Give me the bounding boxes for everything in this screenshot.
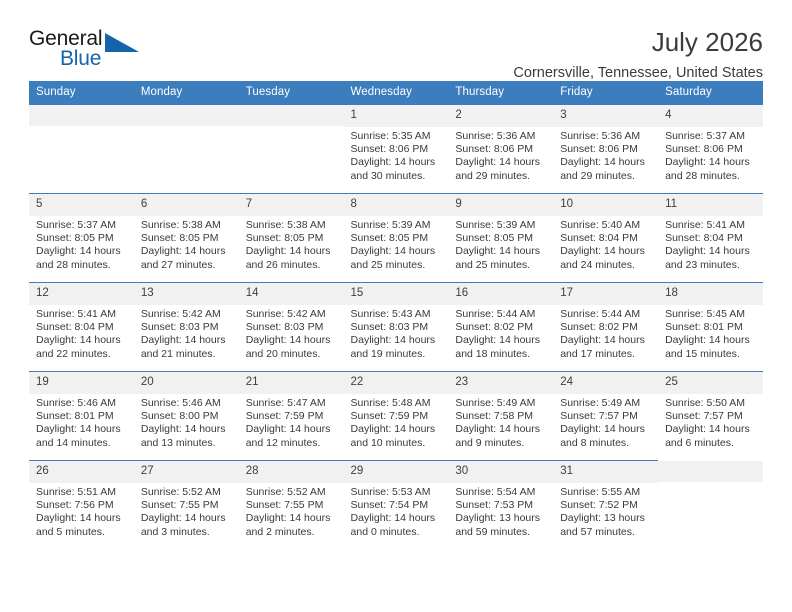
daylight-duration-line2: and 28 minutes.	[36, 259, 130, 272]
sunset-time: Sunset: 8:00 PM	[141, 410, 235, 423]
day-number: 23	[448, 372, 553, 394]
day-number	[239, 105, 344, 127]
sunrise-time: Sunrise: 5:37 AM	[36, 219, 130, 232]
calendar-day-cell[interactable]: 5Sunrise: 5:37 AMSunset: 8:05 PMDaylight…	[29, 194, 134, 283]
sunset-time: Sunset: 7:53 PM	[455, 499, 549, 512]
daylight-duration-line1: Daylight: 14 hours	[665, 334, 759, 347]
calendar-body: 1Sunrise: 5:35 AMSunset: 8:06 PMDaylight…	[29, 105, 763, 550]
day-details: Sunrise: 5:45 AMSunset: 8:01 PMDaylight:…	[658, 305, 763, 362]
daylight-duration-line1: Daylight: 14 hours	[36, 423, 130, 436]
sunrise-time: Sunrise: 5:49 AM	[455, 397, 549, 410]
sunset-time: Sunset: 8:06 PM	[560, 143, 654, 156]
weekday-header-saturday: Saturday	[658, 81, 763, 105]
daylight-duration-line2: and 23 minutes.	[665, 259, 759, 272]
title-block: July 2026 Cornersville, Tennessee, Unite…	[513, 28, 763, 82]
sunrise-time: Sunrise: 5:38 AM	[246, 219, 340, 232]
daylight-duration-line2: and 14 minutes.	[36, 437, 130, 450]
day-number: 11	[658, 194, 763, 216]
sunset-time: Sunset: 7:59 PM	[351, 410, 445, 423]
day-details: Sunrise: 5:52 AMSunset: 7:55 PMDaylight:…	[239, 483, 344, 540]
weekday-header-thursday: Thursday	[448, 81, 553, 105]
day-number: 8	[344, 194, 449, 216]
daylight-duration-line1: Daylight: 14 hours	[246, 423, 340, 436]
logo-text-blue: Blue	[60, 48, 101, 69]
day-details: Sunrise: 5:37 AMSunset: 8:06 PMDaylight:…	[658, 127, 763, 184]
sunrise-time: Sunrise: 5:47 AM	[246, 397, 340, 410]
daylight-duration-line1: Daylight: 14 hours	[560, 156, 654, 169]
daylight-duration-line2: and 59 minutes.	[455, 526, 549, 539]
day-number: 21	[239, 372, 344, 394]
day-details: Sunrise: 5:38 AMSunset: 8:05 PMDaylight:…	[239, 216, 344, 273]
sunrise-time: Sunrise: 5:44 AM	[560, 308, 654, 321]
day-number: 19	[29, 372, 134, 394]
sunset-time: Sunset: 8:04 PM	[560, 232, 654, 245]
weekday-header-wednesday: Wednesday	[344, 81, 449, 105]
daylight-duration-line2: and 57 minutes.	[560, 526, 654, 539]
day-number: 13	[134, 283, 239, 305]
day-number: 1	[344, 105, 449, 127]
sunrise-time: Sunrise: 5:51 AM	[36, 486, 130, 499]
daylight-duration-line1: Daylight: 13 hours	[560, 512, 654, 525]
calendar-day-cell[interactable]: 13Sunrise: 5:42 AMSunset: 8:03 PMDayligh…	[134, 283, 239, 372]
sunrise-time: Sunrise: 5:37 AM	[665, 130, 759, 143]
day-details: Sunrise: 5:53 AMSunset: 7:54 PMDaylight:…	[344, 483, 449, 540]
day-number: 26	[29, 461, 134, 483]
sunrise-time: Sunrise: 5:35 AM	[351, 130, 445, 143]
weekday-header-sunday: Sunday	[29, 81, 134, 105]
daylight-duration-line1: Daylight: 14 hours	[455, 423, 549, 436]
day-details: Sunrise: 5:39 AMSunset: 8:05 PMDaylight:…	[344, 216, 449, 273]
sunrise-time: Sunrise: 5:36 AM	[560, 130, 654, 143]
daylight-duration-line2: and 12 minutes.	[246, 437, 340, 450]
sunrise-time: Sunrise: 5:46 AM	[36, 397, 130, 410]
day-details: Sunrise: 5:37 AMSunset: 8:05 PMDaylight:…	[29, 216, 134, 273]
calendar-day-cell[interactable]: 16Sunrise: 5:44 AMSunset: 8:02 PMDayligh…	[448, 283, 553, 372]
calendar-day-cell[interactable]: 31Sunrise: 5:55 AMSunset: 7:52 PMDayligh…	[553, 461, 658, 550]
sunset-time: Sunset: 8:01 PM	[665, 321, 759, 334]
daylight-duration-line1: Daylight: 14 hours	[455, 245, 549, 258]
day-number: 30	[448, 461, 553, 483]
sunrise-time: Sunrise: 5:45 AM	[665, 308, 759, 321]
daylight-duration-line1: Daylight: 14 hours	[455, 334, 549, 347]
day-number: 25	[658, 372, 763, 394]
daylight-duration-line1: Daylight: 14 hours	[665, 423, 759, 436]
calendar-week-row: 1Sunrise: 5:35 AMSunset: 8:06 PMDaylight…	[29, 105, 763, 194]
day-number: 22	[344, 372, 449, 394]
page-header: General Blue July 2026 Cornersville, Ten…	[29, 0, 763, 76]
day-number	[29, 105, 134, 127]
weekday-header-tuesday: Tuesday	[239, 81, 344, 105]
sunrise-time: Sunrise: 5:41 AM	[665, 219, 759, 232]
sunrise-time: Sunrise: 5:38 AM	[141, 219, 235, 232]
day-details: Sunrise: 5:42 AMSunset: 8:03 PMDaylight:…	[134, 305, 239, 362]
day-details: Sunrise: 5:55 AMSunset: 7:52 PMDaylight:…	[553, 483, 658, 540]
sunrise-time: Sunrise: 5:42 AM	[246, 308, 340, 321]
day-number: 7	[239, 194, 344, 216]
daylight-duration-line2: and 21 minutes.	[141, 348, 235, 361]
daylight-duration-line2: and 3 minutes.	[141, 526, 235, 539]
day-details: Sunrise: 5:42 AMSunset: 8:03 PMDaylight:…	[239, 305, 344, 362]
daylight-duration-line2: and 2 minutes.	[246, 526, 340, 539]
sunset-time: Sunset: 7:55 PM	[246, 499, 340, 512]
daylight-duration-line2: and 9 minutes.	[455, 437, 549, 450]
sunrise-time: Sunrise: 5:41 AM	[36, 308, 130, 321]
sunrise-sunset-calendar: Sunday Monday Tuesday Wednesday Thursday…	[29, 81, 763, 550]
day-details: Sunrise: 5:35 AMSunset: 8:06 PMDaylight:…	[344, 127, 449, 184]
daylight-duration-line1: Daylight: 14 hours	[665, 245, 759, 258]
calendar-day-cell[interactable]: 25Sunrise: 5:50 AMSunset: 7:57 PMDayligh…	[658, 372, 763, 461]
day-number: 31	[553, 461, 658, 483]
sunrise-time: Sunrise: 5:50 AM	[665, 397, 759, 410]
sunset-time: Sunset: 8:05 PM	[455, 232, 549, 245]
day-details: Sunrise: 5:40 AMSunset: 8:04 PMDaylight:…	[553, 216, 658, 273]
daylight-duration-line1: Daylight: 14 hours	[36, 334, 130, 347]
calendar-week-row: 12Sunrise: 5:41 AMSunset: 8:04 PMDayligh…	[29, 283, 763, 372]
sunset-time: Sunset: 8:03 PM	[246, 321, 340, 334]
daylight-duration-line1: Daylight: 14 hours	[560, 423, 654, 436]
calendar-day-cell[interactable]: 11Sunrise: 5:41 AMSunset: 8:04 PMDayligh…	[658, 194, 763, 283]
weekday-header-row: Sunday Monday Tuesday Wednesday Thursday…	[29, 81, 763, 105]
sunset-time: Sunset: 7:56 PM	[36, 499, 130, 512]
sunset-time: Sunset: 8:05 PM	[141, 232, 235, 245]
sunset-time: Sunset: 7:52 PM	[560, 499, 654, 512]
daylight-duration-line1: Daylight: 14 hours	[665, 156, 759, 169]
day-details: Sunrise: 5:52 AMSunset: 7:55 PMDaylight:…	[134, 483, 239, 540]
daylight-duration-line2: and 6 minutes.	[665, 437, 759, 450]
calendar-day-cell[interactable]: 20Sunrise: 5:46 AMSunset: 8:00 PMDayligh…	[134, 372, 239, 461]
sunrise-time: Sunrise: 5:39 AM	[455, 219, 549, 232]
daylight-duration-line2: and 0 minutes.	[351, 526, 445, 539]
day-details: Sunrise: 5:38 AMSunset: 8:05 PMDaylight:…	[134, 216, 239, 273]
sunset-time: Sunset: 8:01 PM	[36, 410, 130, 423]
daylight-duration-line2: and 20 minutes.	[246, 348, 340, 361]
daylight-duration-line2: and 28 minutes.	[665, 170, 759, 183]
day-number: 5	[29, 194, 134, 216]
general-blue-logo[interactable]: General Blue	[29, 28, 149, 76]
day-number: 12	[29, 283, 134, 305]
daylight-duration-line1: Daylight: 14 hours	[246, 245, 340, 258]
calendar-day-cell[interactable]: 10Sunrise: 5:40 AMSunset: 8:04 PMDayligh…	[553, 194, 658, 283]
daylight-duration-line1: Daylight: 14 hours	[351, 512, 445, 525]
daylight-duration-line1: Daylight: 14 hours	[141, 245, 235, 258]
calendar-page: General Blue July 2026 Cornersville, Ten…	[0, 0, 792, 612]
calendar-day-cell[interactable]: 6Sunrise: 5:38 AMSunset: 8:05 PMDaylight…	[134, 194, 239, 283]
daylight-duration-line1: Daylight: 14 hours	[351, 423, 445, 436]
day-number: 4	[658, 105, 763, 127]
day-number: 20	[134, 372, 239, 394]
day-details: Sunrise: 5:44 AMSunset: 8:02 PMDaylight:…	[448, 305, 553, 362]
sunrise-time: Sunrise: 5:44 AM	[455, 308, 549, 321]
day-number: 15	[344, 283, 449, 305]
calendar-day-cell[interactable]: 19Sunrise: 5:46 AMSunset: 8:01 PMDayligh…	[29, 372, 134, 461]
day-number	[134, 105, 239, 127]
sunset-time: Sunset: 7:54 PM	[351, 499, 445, 512]
daylight-duration-line2: and 17 minutes.	[560, 348, 654, 361]
day-details: Sunrise: 5:51 AMSunset: 7:56 PMDaylight:…	[29, 483, 134, 540]
day-details: Sunrise: 5:46 AMSunset: 8:01 PMDaylight:…	[29, 394, 134, 451]
daylight-duration-line2: and 5 minutes.	[36, 526, 130, 539]
daylight-duration-line2: and 18 minutes.	[455, 348, 549, 361]
logo-text-general: General	[29, 28, 102, 49]
daylight-duration-line2: and 25 minutes.	[351, 259, 445, 272]
calendar-day-cell[interactable]: 4Sunrise: 5:37 AMSunset: 8:06 PMDaylight…	[658, 105, 763, 194]
calendar-day-cell[interactable]: 21Sunrise: 5:47 AMSunset: 7:59 PMDayligh…	[239, 372, 344, 461]
day-number: 14	[239, 283, 344, 305]
daylight-duration-line1: Daylight: 14 hours	[141, 423, 235, 436]
sunrise-time: Sunrise: 5:49 AM	[560, 397, 654, 410]
day-number: 3	[553, 105, 658, 127]
day-details: Sunrise: 5:49 AMSunset: 7:57 PMDaylight:…	[553, 394, 658, 451]
day-details: Sunrise: 5:39 AMSunset: 8:05 PMDaylight:…	[448, 216, 553, 273]
day-number: 16	[448, 283, 553, 305]
weekday-header-monday: Monday	[134, 81, 239, 105]
calendar-day-cell[interactable]: 23Sunrise: 5:49 AMSunset: 7:58 PMDayligh…	[448, 372, 553, 461]
sunrise-time: Sunrise: 5:52 AM	[141, 486, 235, 499]
calendar-day-cell[interactable]: 30Sunrise: 5:54 AMSunset: 7:53 PMDayligh…	[448, 461, 553, 550]
calendar-day-cell[interactable]: 24Sunrise: 5:49 AMSunset: 7:57 PMDayligh…	[553, 372, 658, 461]
daylight-duration-line2: and 30 minutes.	[351, 170, 445, 183]
daylight-duration-line2: and 29 minutes.	[455, 170, 549, 183]
daylight-duration-line2: and 13 minutes.	[141, 437, 235, 450]
daylight-duration-line2: and 15 minutes.	[665, 348, 759, 361]
day-number	[658, 461, 763, 483]
calendar-day-cell[interactable]: 15Sunrise: 5:43 AMSunset: 8:03 PMDayligh…	[344, 283, 449, 372]
daylight-duration-line1: Daylight: 14 hours	[36, 245, 130, 258]
sunrise-time: Sunrise: 5:39 AM	[351, 219, 445, 232]
daylight-duration-line1: Daylight: 14 hours	[351, 334, 445, 347]
daylight-duration-line1: Daylight: 14 hours	[246, 512, 340, 525]
sunset-time: Sunset: 8:04 PM	[665, 232, 759, 245]
sunset-time: Sunset: 8:04 PM	[36, 321, 130, 334]
calendar-day-cell[interactable]: 29Sunrise: 5:53 AMSunset: 7:54 PMDayligh…	[344, 461, 449, 550]
day-details: Sunrise: 5:43 AMSunset: 8:03 PMDaylight:…	[344, 305, 449, 362]
calendar-day-cell[interactable]: 14Sunrise: 5:42 AMSunset: 8:03 PMDayligh…	[239, 283, 344, 372]
calendar-day-cell[interactable]: 9Sunrise: 5:39 AMSunset: 8:05 PMDaylight…	[448, 194, 553, 283]
sunset-time: Sunset: 7:57 PM	[560, 410, 654, 423]
sunset-time: Sunset: 8:05 PM	[351, 232, 445, 245]
sunset-time: Sunset: 8:06 PM	[351, 143, 445, 156]
calendar-day-cell-empty	[658, 461, 763, 550]
location-subtitle: Cornersville, Tennessee, United States	[513, 66, 763, 82]
calendar-week-row: 26Sunrise: 5:51 AMSunset: 7:56 PMDayligh…	[29, 461, 763, 550]
daylight-duration-line2: and 26 minutes.	[246, 259, 340, 272]
daylight-duration-line1: Daylight: 14 hours	[246, 334, 340, 347]
calendar-day-cell[interactable]: 2Sunrise: 5:36 AMSunset: 8:06 PMDaylight…	[448, 105, 553, 194]
calendar-day-cell[interactable]: 8Sunrise: 5:39 AMSunset: 8:05 PMDaylight…	[344, 194, 449, 283]
calendar-day-cell-empty	[29, 105, 134, 194]
day-number: 28	[239, 461, 344, 483]
sunrise-time: Sunrise: 5:48 AM	[351, 397, 445, 410]
day-number: 29	[344, 461, 449, 483]
day-number: 27	[134, 461, 239, 483]
daylight-duration-line2: and 10 minutes.	[351, 437, 445, 450]
daylight-duration-line2: and 22 minutes.	[36, 348, 130, 361]
day-details: Sunrise: 5:46 AMSunset: 8:00 PMDaylight:…	[134, 394, 239, 451]
sunrise-time: Sunrise: 5:54 AM	[455, 486, 549, 499]
sunrise-time: Sunrise: 5:55 AM	[560, 486, 654, 499]
calendar-day-cell[interactable]: 18Sunrise: 5:45 AMSunset: 8:01 PMDayligh…	[658, 283, 763, 372]
day-details: Sunrise: 5:48 AMSunset: 7:59 PMDaylight:…	[344, 394, 449, 451]
day-details: Sunrise: 5:49 AMSunset: 7:58 PMDaylight:…	[448, 394, 553, 451]
sunset-time: Sunset: 7:57 PM	[665, 410, 759, 423]
daylight-duration-line2: and 29 minutes.	[560, 170, 654, 183]
sunrise-time: Sunrise: 5:42 AM	[141, 308, 235, 321]
day-details: Sunrise: 5:36 AMSunset: 8:06 PMDaylight:…	[553, 127, 658, 184]
day-number: 6	[134, 194, 239, 216]
day-details: Sunrise: 5:50 AMSunset: 7:57 PMDaylight:…	[658, 394, 763, 451]
daylight-duration-line1: Daylight: 13 hours	[455, 512, 549, 525]
daylight-duration-line1: Daylight: 14 hours	[455, 156, 549, 169]
day-details: Sunrise: 5:41 AMSunset: 8:04 PMDaylight:…	[658, 216, 763, 273]
day-details: Sunrise: 5:54 AMSunset: 7:53 PMDaylight:…	[448, 483, 553, 540]
daylight-duration-line2: and 24 minutes.	[560, 259, 654, 272]
sunset-time: Sunset: 8:02 PM	[455, 321, 549, 334]
triangle-icon	[105, 33, 141, 57]
daylight-duration-line1: Daylight: 14 hours	[36, 512, 130, 525]
day-number: 10	[553, 194, 658, 216]
day-number: 18	[658, 283, 763, 305]
sunset-time: Sunset: 7:58 PM	[455, 410, 549, 423]
sunset-time: Sunset: 7:55 PM	[141, 499, 235, 512]
daylight-duration-line1: Daylight: 14 hours	[141, 512, 235, 525]
day-number: 2	[448, 105, 553, 127]
daylight-duration-line1: Daylight: 14 hours	[351, 156, 445, 169]
calendar-day-cell[interactable]: 7Sunrise: 5:38 AMSunset: 8:05 PMDaylight…	[239, 194, 344, 283]
sunset-time: Sunset: 8:03 PM	[141, 321, 235, 334]
sunset-time: Sunset: 8:03 PM	[351, 321, 445, 334]
sunrise-time: Sunrise: 5:36 AM	[455, 130, 549, 143]
sunset-time: Sunset: 8:05 PM	[36, 232, 130, 245]
sunset-time: Sunset: 8:06 PM	[665, 143, 759, 156]
daylight-duration-line2: and 8 minutes.	[560, 437, 654, 450]
calendar-day-cell[interactable]: 26Sunrise: 5:51 AMSunset: 7:56 PMDayligh…	[29, 461, 134, 550]
daylight-duration-line1: Daylight: 14 hours	[351, 245, 445, 258]
sunrise-time: Sunrise: 5:52 AM	[246, 486, 340, 499]
sunset-time: Sunset: 8:05 PM	[246, 232, 340, 245]
weekday-header-friday: Friday	[553, 81, 658, 105]
daylight-duration-line1: Daylight: 14 hours	[560, 245, 654, 258]
daylight-duration-line1: Daylight: 14 hours	[141, 334, 235, 347]
day-number: 9	[448, 194, 553, 216]
day-number: 24	[553, 372, 658, 394]
calendar-day-cell[interactable]: 1Sunrise: 5:35 AMSunset: 8:06 PMDaylight…	[344, 105, 449, 194]
daylight-duration-line2: and 25 minutes.	[455, 259, 549, 272]
sunset-time: Sunset: 8:02 PM	[560, 321, 654, 334]
calendar-day-cell[interactable]: 12Sunrise: 5:41 AMSunset: 8:04 PMDayligh…	[29, 283, 134, 372]
calendar-week-row: 5Sunrise: 5:37 AMSunset: 8:05 PMDaylight…	[29, 194, 763, 283]
sunset-time: Sunset: 8:06 PM	[455, 143, 549, 156]
sunrise-time: Sunrise: 5:46 AM	[141, 397, 235, 410]
day-details: Sunrise: 5:36 AMSunset: 8:06 PMDaylight:…	[448, 127, 553, 184]
sunset-time: Sunset: 7:59 PM	[246, 410, 340, 423]
sunrise-time: Sunrise: 5:53 AM	[351, 486, 445, 499]
calendar-day-cell[interactable]: 17Sunrise: 5:44 AMSunset: 8:02 PMDayligh…	[553, 283, 658, 372]
sunrise-time: Sunrise: 5:43 AM	[351, 308, 445, 321]
calendar-day-cell[interactable]: 27Sunrise: 5:52 AMSunset: 7:55 PMDayligh…	[134, 461, 239, 550]
daylight-duration-line2: and 27 minutes.	[141, 259, 235, 272]
calendar-week-row: 19Sunrise: 5:46 AMSunset: 8:01 PMDayligh…	[29, 372, 763, 461]
sunrise-time: Sunrise: 5:40 AM	[560, 219, 654, 232]
day-details: Sunrise: 5:44 AMSunset: 8:02 PMDaylight:…	[553, 305, 658, 362]
calendar-day-cell[interactable]: 3Sunrise: 5:36 AMSunset: 8:06 PMDaylight…	[553, 105, 658, 194]
day-details: Sunrise: 5:47 AMSunset: 7:59 PMDaylight:…	[239, 394, 344, 451]
day-details: Sunrise: 5:41 AMSunset: 8:04 PMDaylight:…	[29, 305, 134, 362]
day-number: 17	[553, 283, 658, 305]
daylight-duration-line2: and 19 minutes.	[351, 348, 445, 361]
calendar-day-cell-empty	[239, 105, 344, 194]
daylight-duration-line1: Daylight: 14 hours	[560, 334, 654, 347]
page-title: July 2026	[513, 28, 763, 57]
calendar-day-cell[interactable]: 28Sunrise: 5:52 AMSunset: 7:55 PMDayligh…	[239, 461, 344, 550]
calendar-day-cell-empty	[134, 105, 239, 194]
calendar-day-cell[interactable]: 22Sunrise: 5:48 AMSunset: 7:59 PMDayligh…	[344, 372, 449, 461]
